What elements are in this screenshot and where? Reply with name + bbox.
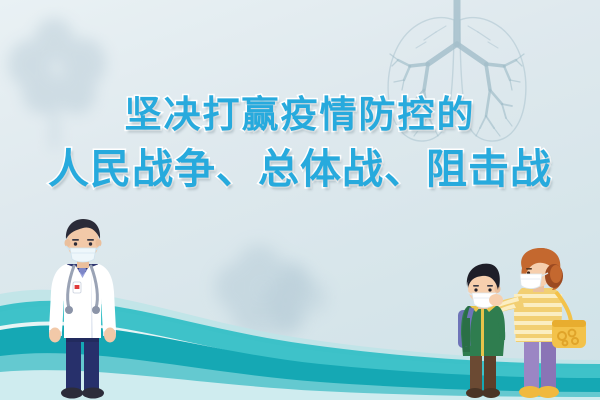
poster-title: 坚决打赢疫情防控的 人民战争、总体战、阻击战 [0, 96, 600, 190]
mother-and-child-illustration [450, 248, 596, 400]
title-line-2: 人民战争、总体战、阻击战 [0, 149, 600, 190]
title-line-1: 坚决打赢疫情防控的 [0, 96, 600, 133]
doctor-illustration [36, 212, 132, 400]
poster-canvas: 坚决打赢疫情防控的 人民战争、总体战、阻击战 [0, 0, 600, 400]
